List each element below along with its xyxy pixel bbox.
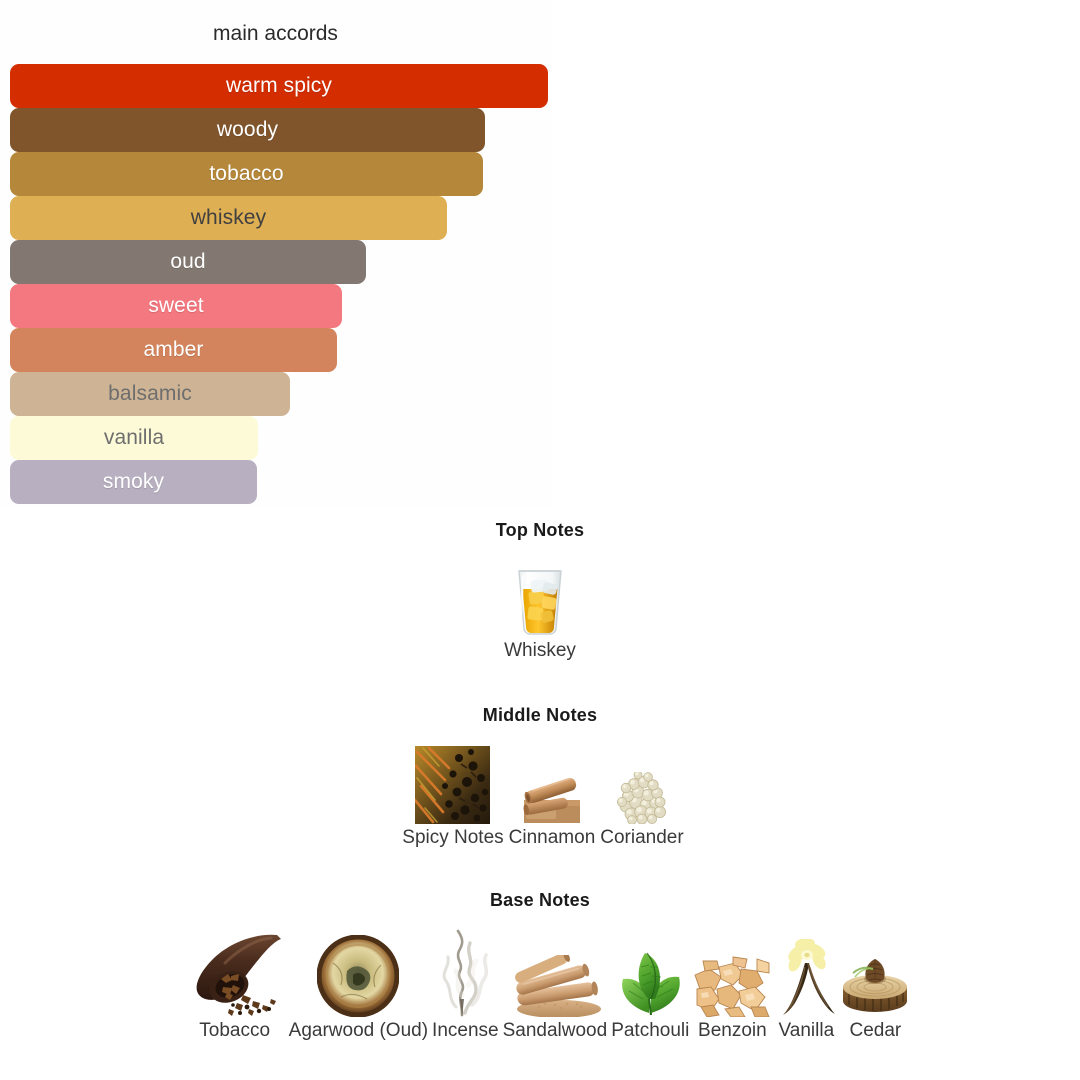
- accord-bar[interactable]: smoky: [10, 460, 257, 504]
- note-caption: Benzoin: [698, 1019, 767, 1042]
- note-item[interactable]: Cedar: [841, 955, 909, 1042]
- main-accords-panel: main accords warm spicywoodytobaccowhisk…: [0, 0, 551, 506]
- accord-bar[interactable]: amber: [10, 328, 337, 372]
- accord-label: smoky: [103, 470, 164, 494]
- middle-notes-section: Middle Notes Spicy NotesCinnamonCoriande…: [0, 705, 1080, 849]
- accord-label: vanilla: [104, 426, 164, 450]
- note-item[interactable]: Whiskey: [504, 563, 576, 662]
- note-caption: Agarwood (Oud): [289, 1019, 428, 1042]
- accords-bar-chart: warm spicywoodytobaccowhiskeyoudsweetamb…: [10, 64, 551, 504]
- note-item[interactable]: Agarwood (Oud): [289, 935, 428, 1042]
- accord-bar[interactable]: sweet: [10, 284, 342, 328]
- accord-label: sweet: [148, 294, 203, 318]
- accord-label: warm spicy: [226, 74, 332, 98]
- note-item[interactable]: Spicy Notes: [402, 746, 503, 849]
- incense-smoke-icon: [432, 929, 498, 1017]
- accord-label: amber: [143, 338, 203, 362]
- note-item[interactable]: Incense: [432, 929, 499, 1042]
- top-notes-section: Top Notes Whiskey: [0, 520, 1080, 662]
- accord-bar[interactable]: oud: [10, 240, 366, 284]
- accord-bar[interactable]: balsamic: [10, 372, 290, 416]
- accord-label: tobacco: [209, 162, 283, 186]
- top-notes-heading: Top Notes: [0, 520, 1080, 541]
- note-item[interactable]: Benzoin: [693, 955, 771, 1042]
- agarwood-slice-icon: [317, 935, 399, 1017]
- tobacco-pipe-icon: [185, 929, 285, 1017]
- coriander-seeds-icon: [614, 772, 669, 824]
- accord-bar[interactable]: tobacco: [10, 152, 483, 196]
- page-title: main accords: [0, 21, 551, 47]
- middle-notes-row: Spicy NotesCinnamonCoriander: [0, 746, 1080, 849]
- note-item[interactable]: Coriander: [600, 772, 683, 849]
- note-caption: Vanilla: [779, 1019, 835, 1042]
- top-notes-row: Whiskey: [0, 563, 1080, 662]
- note-caption: Spicy Notes: [402, 826, 503, 849]
- sandalwood-logs-icon: [509, 955, 601, 1017]
- accord-label: oud: [170, 250, 205, 274]
- note-item[interactable]: Tobacco: [185, 929, 285, 1042]
- note-caption: Cinnamon: [509, 826, 596, 849]
- note-item[interactable]: Sandalwood: [503, 955, 608, 1042]
- middle-notes-heading: Middle Notes: [0, 705, 1080, 726]
- cedar-slice-icon: [841, 955, 909, 1017]
- note-item[interactable]: Cinnamon: [509, 774, 596, 849]
- spicy-notes-icon: [415, 746, 490, 824]
- base-notes-heading: Base Notes: [0, 890, 1080, 911]
- note-caption: Incense: [432, 1019, 499, 1042]
- patchouli-leaf-icon: [611, 949, 689, 1017]
- accord-bar[interactable]: warm spicy: [10, 64, 548, 108]
- note-caption: Whiskey: [504, 639, 576, 662]
- base-notes-row: TobaccoAgarwood (Oud)IncenseSandalwoodPa…: [0, 929, 1080, 1042]
- note-caption: Sandalwood: [503, 1019, 608, 1042]
- accord-bar[interactable]: vanilla: [10, 416, 258, 460]
- benzoin-resin-icon: [693, 955, 771, 1017]
- base-notes-section: Base Notes TobaccoAgarwood (Oud)IncenseS…: [0, 890, 1080, 1042]
- accord-label: balsamic: [108, 382, 192, 406]
- accord-label: whiskey: [191, 206, 266, 230]
- accord-label: woody: [217, 118, 278, 142]
- accord-bar[interactable]: whiskey: [10, 196, 447, 240]
- note-caption: Coriander: [600, 826, 683, 849]
- vanilla-pod-icon: [775, 939, 837, 1017]
- note-caption: Patchouli: [611, 1019, 689, 1042]
- accord-bar[interactable]: woody: [10, 108, 485, 152]
- whiskey-glass-icon: [509, 563, 571, 637]
- note-caption: Tobacco: [199, 1019, 270, 1042]
- cinnamon-sticks-icon: [522, 774, 582, 824]
- note-item[interactable]: Vanilla: [775, 939, 837, 1042]
- note-caption: Cedar: [849, 1019, 901, 1042]
- note-item[interactable]: Patchouli: [611, 949, 689, 1042]
